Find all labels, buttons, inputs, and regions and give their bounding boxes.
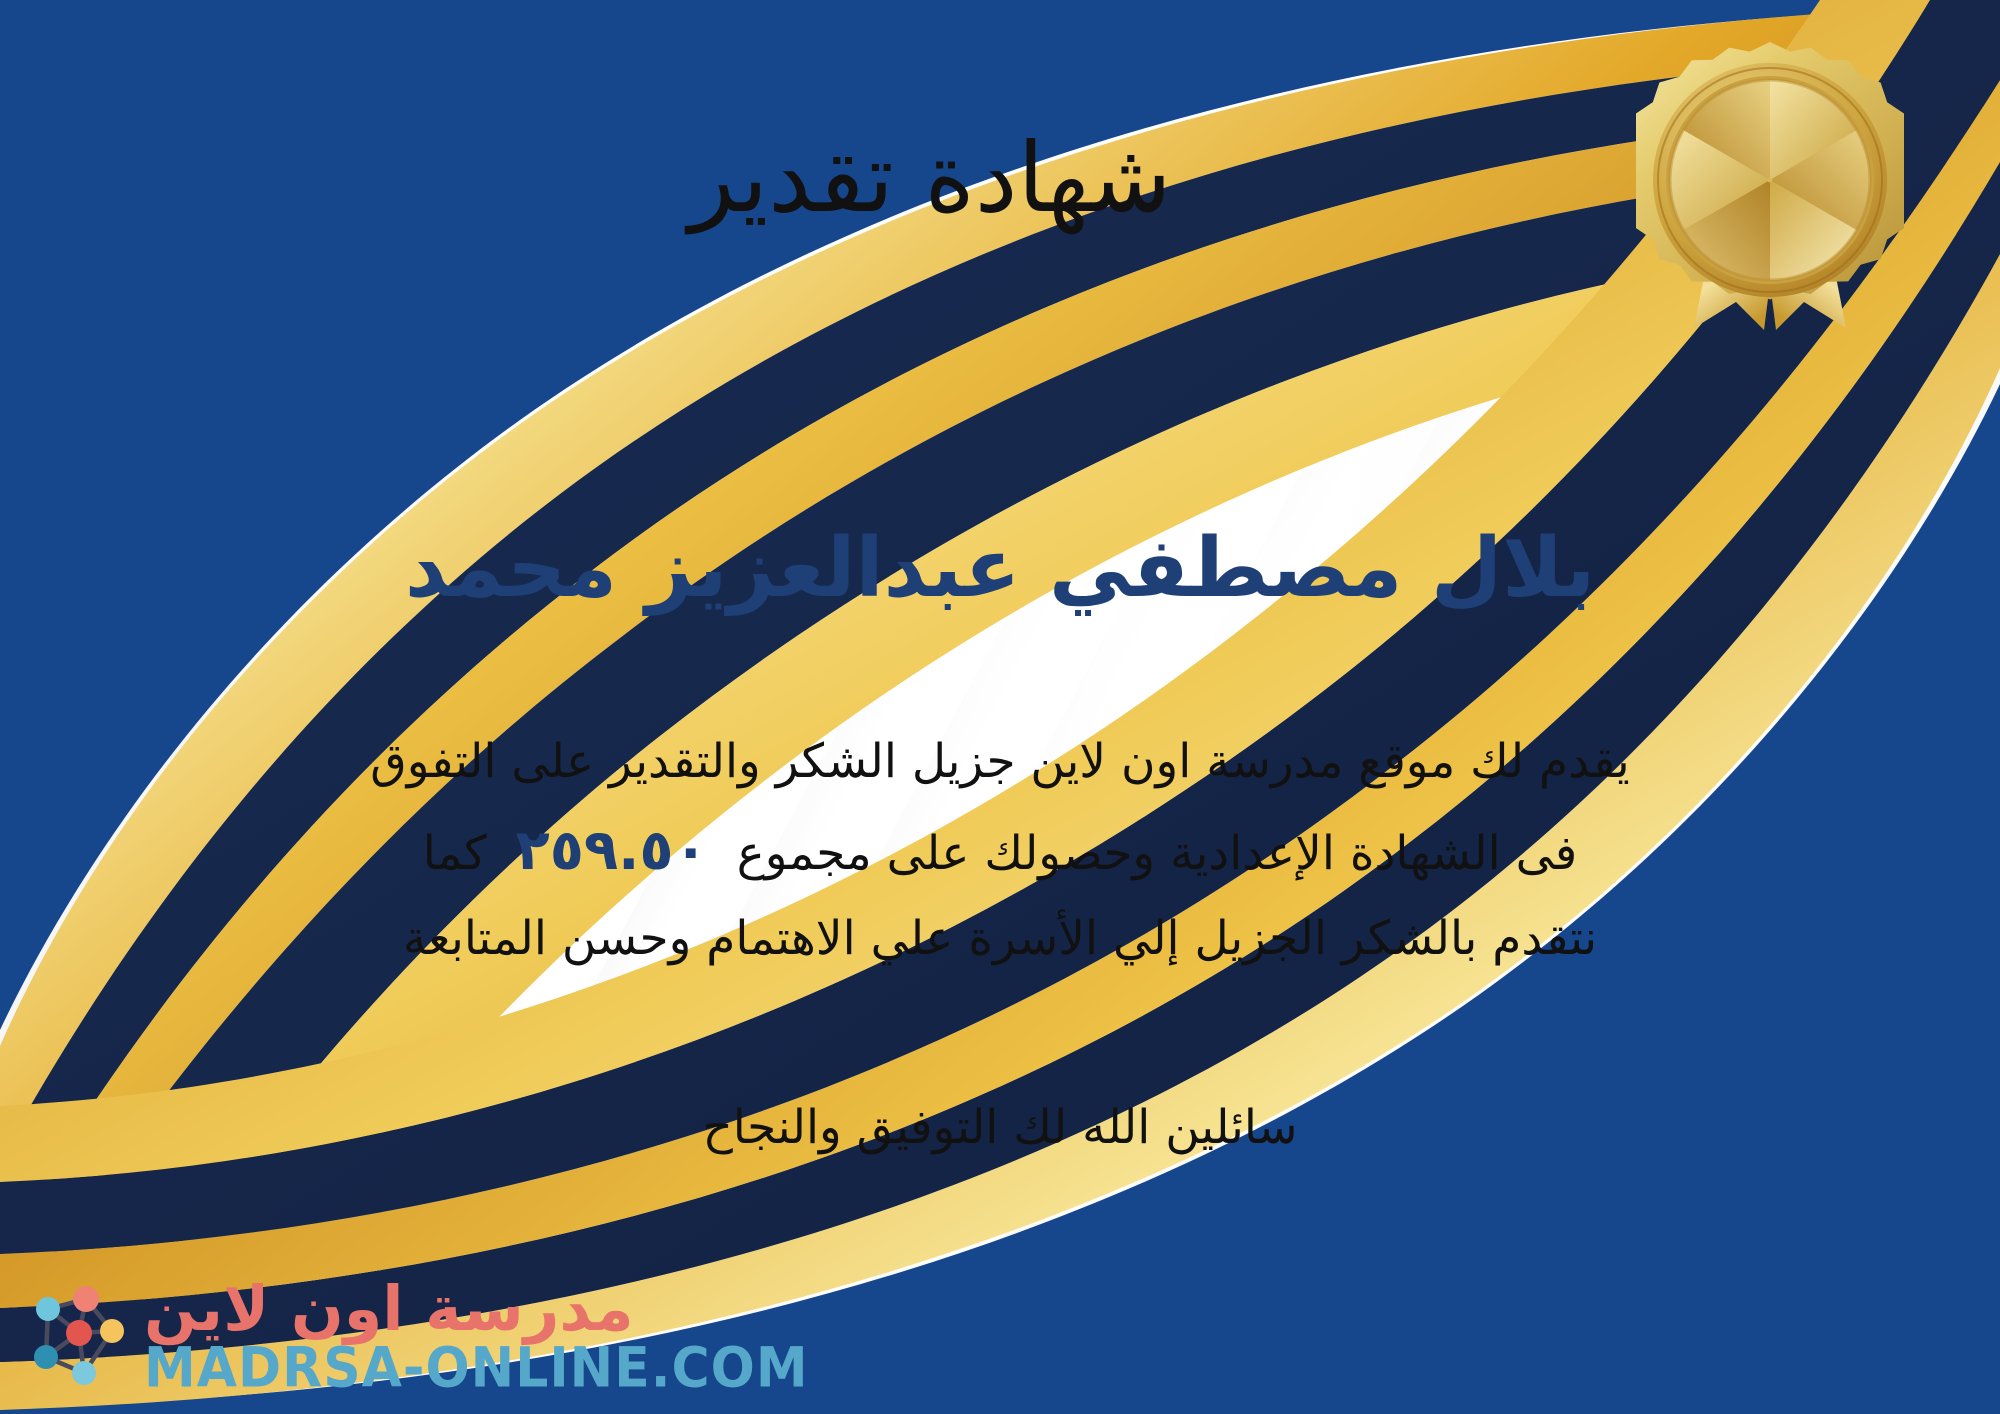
recipient-name: بلال مصطفي عبدالعزيز محمد — [0, 516, 2000, 623]
body-line-1: يقدم لك موقع مدرسة اون لاين جزيل الشكر و… — [60, 722, 1940, 803]
brand-website-url[interactable]: MADRSA-ONLINE.COM — [144, 1341, 809, 1396]
network-nodes-icon — [22, 1281, 134, 1393]
total-score-value: ٢٥٩.٥٠ — [502, 818, 722, 883]
brand-logo[interactable]: مدرسة اون لاين MADRSA-ONLINE.COM — [22, 1278, 809, 1396]
certificate-canvas: شهادة تقدير بلال مصطفي عبدالعزيز محمد يق… — [0, 0, 2000, 1414]
body-line-2-suffix: كما — [423, 826, 487, 881]
certificate-body: يقدم لك موقع مدرسة اون لاين جزيل الشكر و… — [60, 722, 1940, 980]
body-line-2: فى الشهادة الإعدادية وحصولك على مجموع ٢٥… — [60, 803, 1940, 899]
closing-wish: سائلين الله لك التوفيق والنجاح — [60, 1090, 1940, 1165]
certificate-content: شهادة تقدير بلال مصطفي عبدالعزيز محمد يق… — [0, 0, 2000, 1414]
brand-text-block: مدرسة اون لاين MADRSA-ONLINE.COM — [144, 1278, 809, 1396]
page-title: شهادة تقدير — [0, 118, 2000, 238]
body-line-3: نتقدم بالشكر الجزيل إلي الأسرة علي الاهت… — [60, 899, 1940, 980]
body-line-2-prefix: فى الشهادة الإعدادية وحصولك على مجموع — [737, 826, 1578, 881]
brand-arabic-name: مدرسة اون لاين — [144, 1278, 634, 1340]
